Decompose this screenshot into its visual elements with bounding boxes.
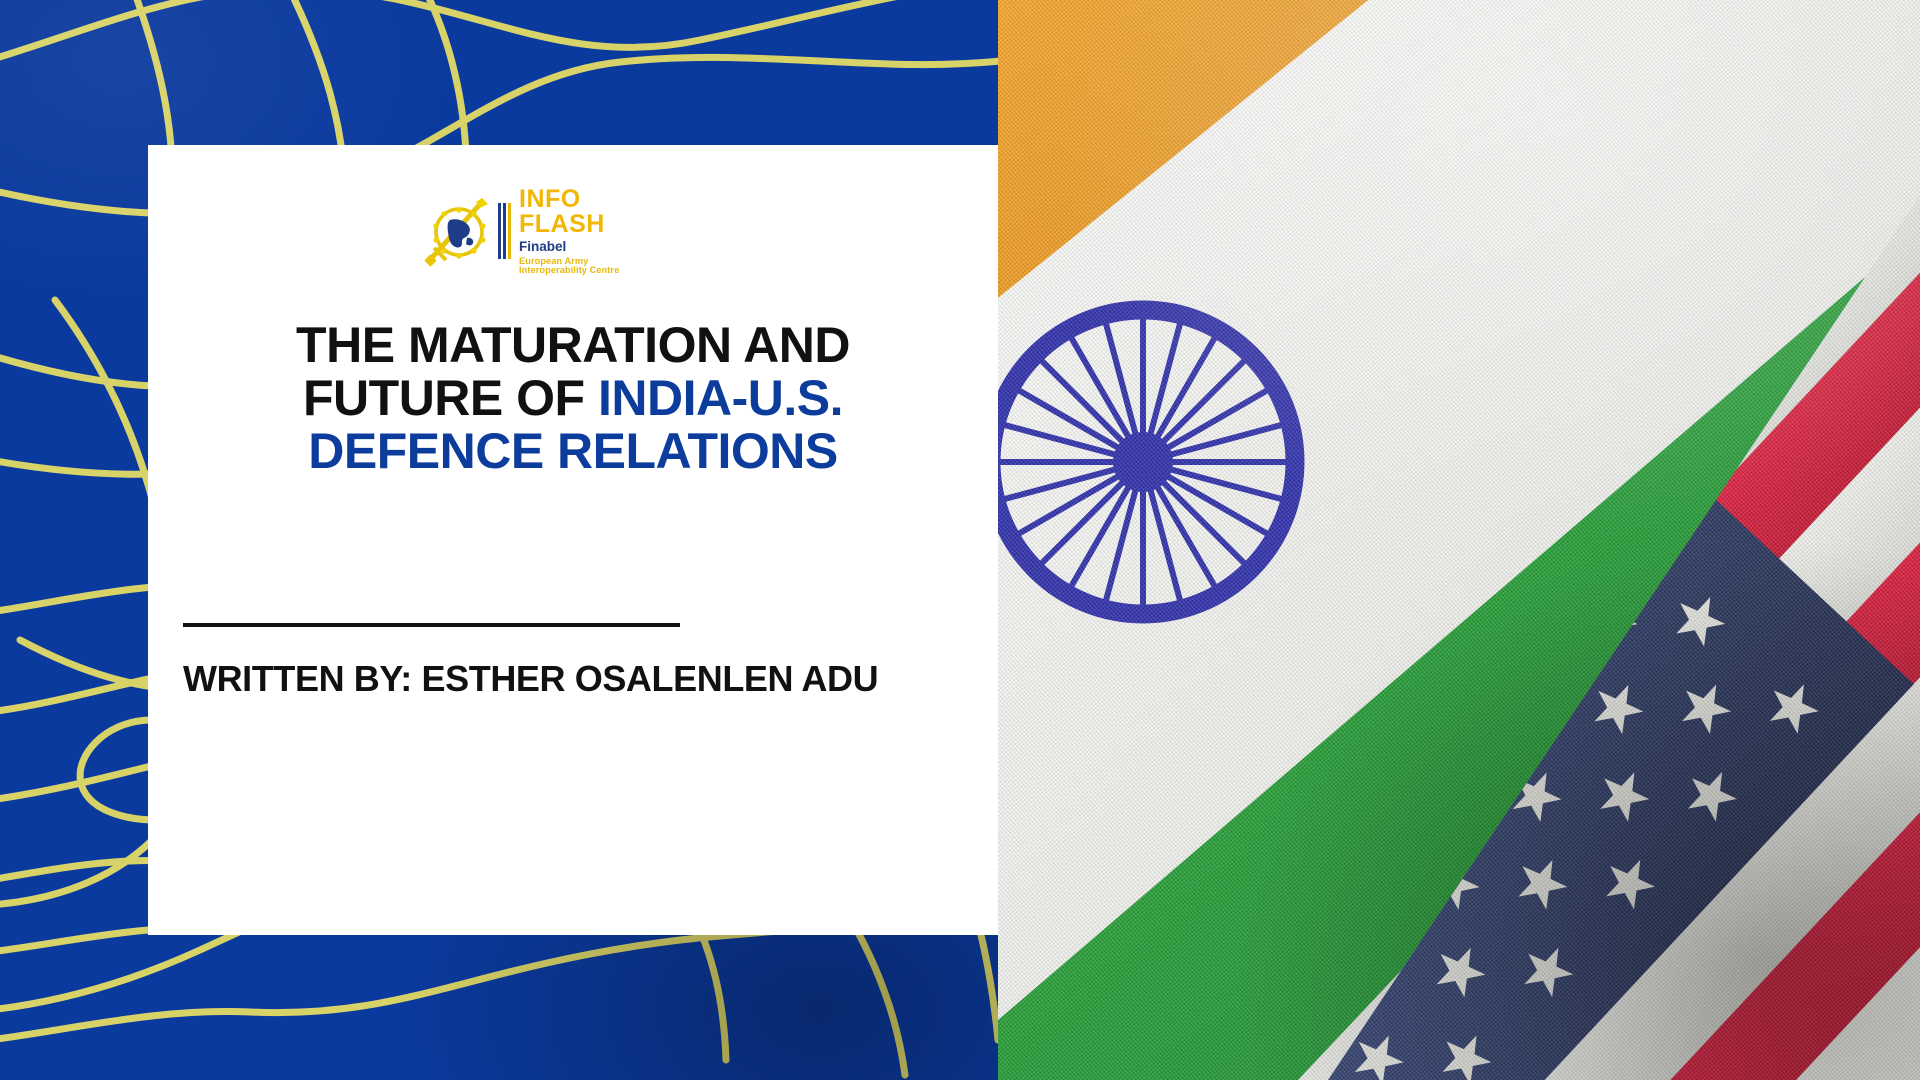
flag-illustration <box>998 0 1920 1080</box>
content-card: INFO FLASH Finabel European Army Interop… <box>148 145 998 935</box>
logo-text-block: INFO FLASH Finabel European Army Interop… <box>519 187 650 275</box>
headline-line-3-accent: DEFENCE RELATIONS <box>308 423 838 479</box>
title-divider <box>183 623 680 627</box>
headline-line-2-accent: INDIA-U.S. <box>598 370 843 426</box>
logo-title: INFO FLASH <box>519 187 650 237</box>
logo-organisation: Finabel <box>519 240 650 254</box>
poster-canvas: INFO FLASH Finabel European Army Interop… <box>0 0 1920 1080</box>
finabel-emblem-icon <box>420 192 496 270</box>
logo-divider-bars <box>498 203 511 259</box>
india-usa-flags-photo <box>998 0 1920 1080</box>
finabel-info-flash-logo: INFO FLASH Finabel European Army Interop… <box>420 190 650 272</box>
headline-line-1: THE MATURATION AND <box>296 317 850 373</box>
headline-line-2-plain: FUTURE OF <box>303 370 598 426</box>
logo-tagline: European Army Interoperability Centre <box>519 257 650 275</box>
byline: WRITTEN BY: ESTHER OSALENLEN ADU <box>148 658 998 700</box>
page-title: THE MATURATION AND FUTURE OF INDIA-U.S. … <box>148 319 998 478</box>
